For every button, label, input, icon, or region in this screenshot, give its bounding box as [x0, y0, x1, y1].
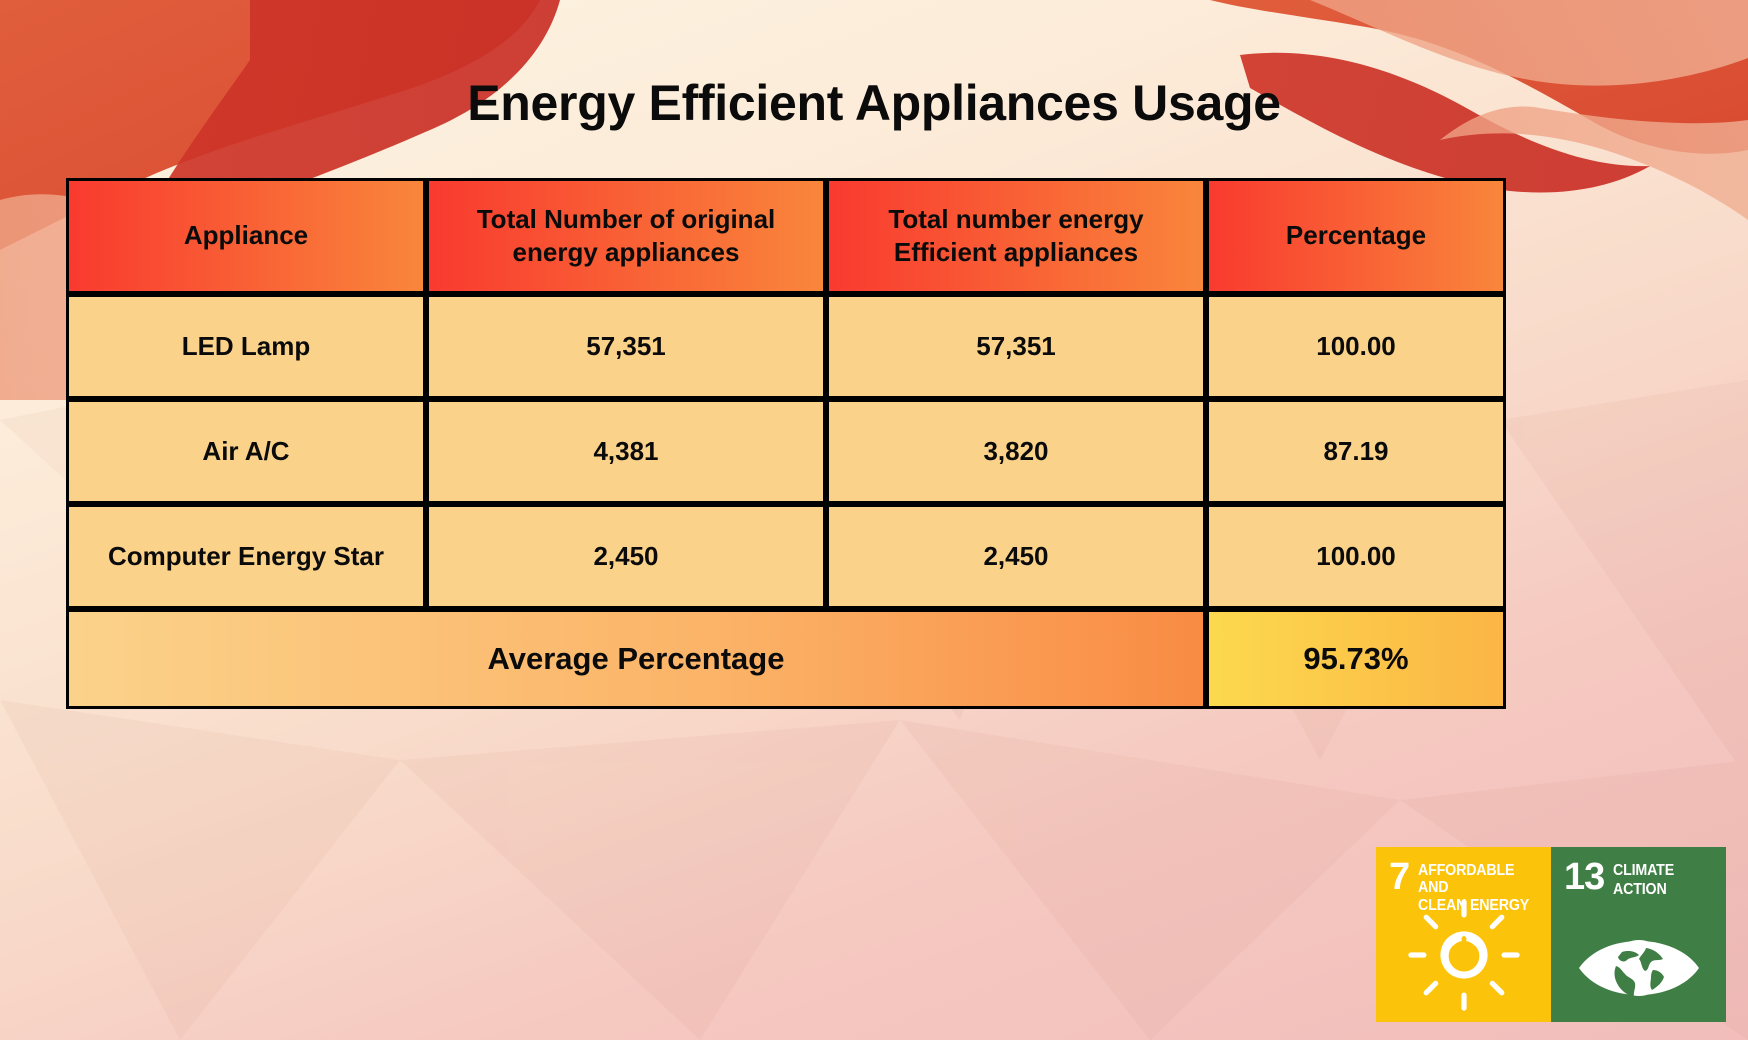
sdg-13-header: 13 CLIMATE ACTION [1551, 847, 1726, 898]
energy-appliances-table: Appliance Total Number of original energ… [66, 178, 1506, 709]
column-header-total-efficient-line2: Efficient appliances [829, 236, 1203, 269]
column-header-total-original: Total Number of original energy applianc… [426, 178, 826, 294]
column-header-total-efficient: Total number energy Efficient appliances [826, 178, 1206, 294]
cell-total-original: 2,450 [426, 504, 826, 609]
sdg-13-title-line2: ACTION [1613, 880, 1674, 899]
appliances-table-container: Appliance Total Number of original energ… [66, 178, 1506, 709]
column-header-total-efficient-line1: Total number energy [829, 203, 1203, 236]
sun-power-icon [1376, 896, 1551, 1014]
column-header-appliance-label: Appliance [69, 219, 423, 252]
cell-total-efficient: 3,820 [826, 399, 1206, 504]
summary-value: 95.73% [1206, 609, 1506, 709]
sdg-badge-7: 7 AFFORDABLE AND CLEAN ENERGY [1376, 847, 1551, 1022]
sdg-13-title: CLIMATE ACTION [1613, 861, 1679, 898]
table-body: LED Lamp 57,351 57,351 100.00 Air A/C 4,… [66, 294, 1506, 709]
sdg-badge-group: 7 AFFORDABLE AND CLEAN ENERGY [1376, 847, 1726, 1022]
cell-percentage: 100.00 [1206, 504, 1506, 609]
sdg-7-title-line1: AFFORDABLE AND [1418, 861, 1540, 896]
sdg-13-title-line1: CLIMATE [1613, 861, 1674, 880]
column-header-appliance: Appliance [66, 178, 426, 294]
table-row: Computer Energy Star 2,450 2,450 100.00 [66, 504, 1506, 609]
cell-appliance: Air A/C [66, 399, 426, 504]
sdg-badge-13: 13 CLIMATE ACTION [1551, 847, 1726, 1022]
sdg-7-number: 7 [1389, 861, 1409, 894]
table-header: Appliance Total Number of original energ… [66, 178, 1506, 294]
table-header-row: Appliance Total Number of original energ… [66, 178, 1506, 294]
cell-percentage: 87.19 [1206, 399, 1506, 504]
page-title: Energy Efficient Appliances Usage [0, 74, 1748, 132]
cell-appliance: Computer Energy Star [66, 504, 426, 609]
cell-total-original: 57,351 [426, 294, 826, 399]
column-header-percentage: Percentage [1206, 178, 1506, 294]
sdg-13-number: 13 [1564, 861, 1604, 894]
table-row: LED Lamp 57,351 57,351 100.00 [66, 294, 1506, 399]
cell-total-original: 4,381 [426, 399, 826, 504]
cell-percentage: 100.00 [1206, 294, 1506, 399]
cell-total-efficient: 2,450 [826, 504, 1206, 609]
eye-globe-icon [1551, 922, 1726, 1014]
column-header-total-original-line2: energy appliances [429, 236, 823, 269]
table-row: Air A/C 4,381 3,820 87.19 [66, 399, 1506, 504]
column-header-total-original-line1: Total Number of original [429, 203, 823, 236]
column-header-percentage-label: Percentage [1209, 219, 1503, 252]
slide-canvas: Energy Efficient Appliances Usage Applia… [0, 0, 1748, 1040]
cell-total-efficient: 57,351 [826, 294, 1206, 399]
summary-label: Average Percentage [66, 609, 1206, 709]
cell-appliance: LED Lamp [66, 294, 426, 399]
table-summary-row: Average Percentage 95.73% [66, 609, 1506, 709]
